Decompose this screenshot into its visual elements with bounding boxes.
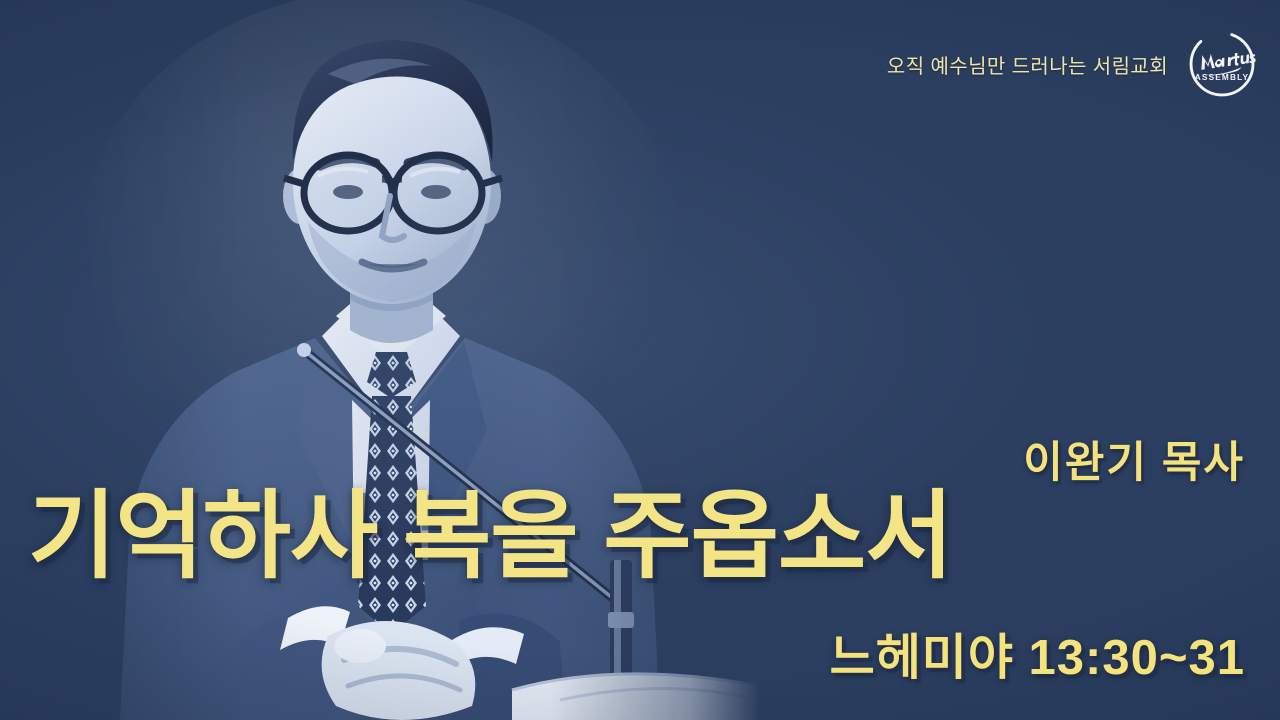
scripture-reference: 느헤미야 13:30~31 <box>830 618 1245 689</box>
speaker-name: 이완기 목사 <box>1023 428 1245 490</box>
header: 오직 예수님만 드러나는 서림교회 ASSEMBLY <box>887 28 1258 100</box>
svg-text:ASSEMBLY: ASSEMBLY <box>1195 73 1249 82</box>
sermon-thumbnail: 오직 예수님만 드러나는 서림교회 ASSEMBLY 이완기 목사 <box>0 0 1280 720</box>
background-vignette <box>0 0 1280 720</box>
sermon-title: 기억하사 복을 주옵소서 <box>28 487 1252 588</box>
church-tagline: 오직 예수님만 드러나는 서림교회 <box>887 50 1168 79</box>
martus-assembly-logo: ASSEMBLY <box>1186 28 1258 100</box>
